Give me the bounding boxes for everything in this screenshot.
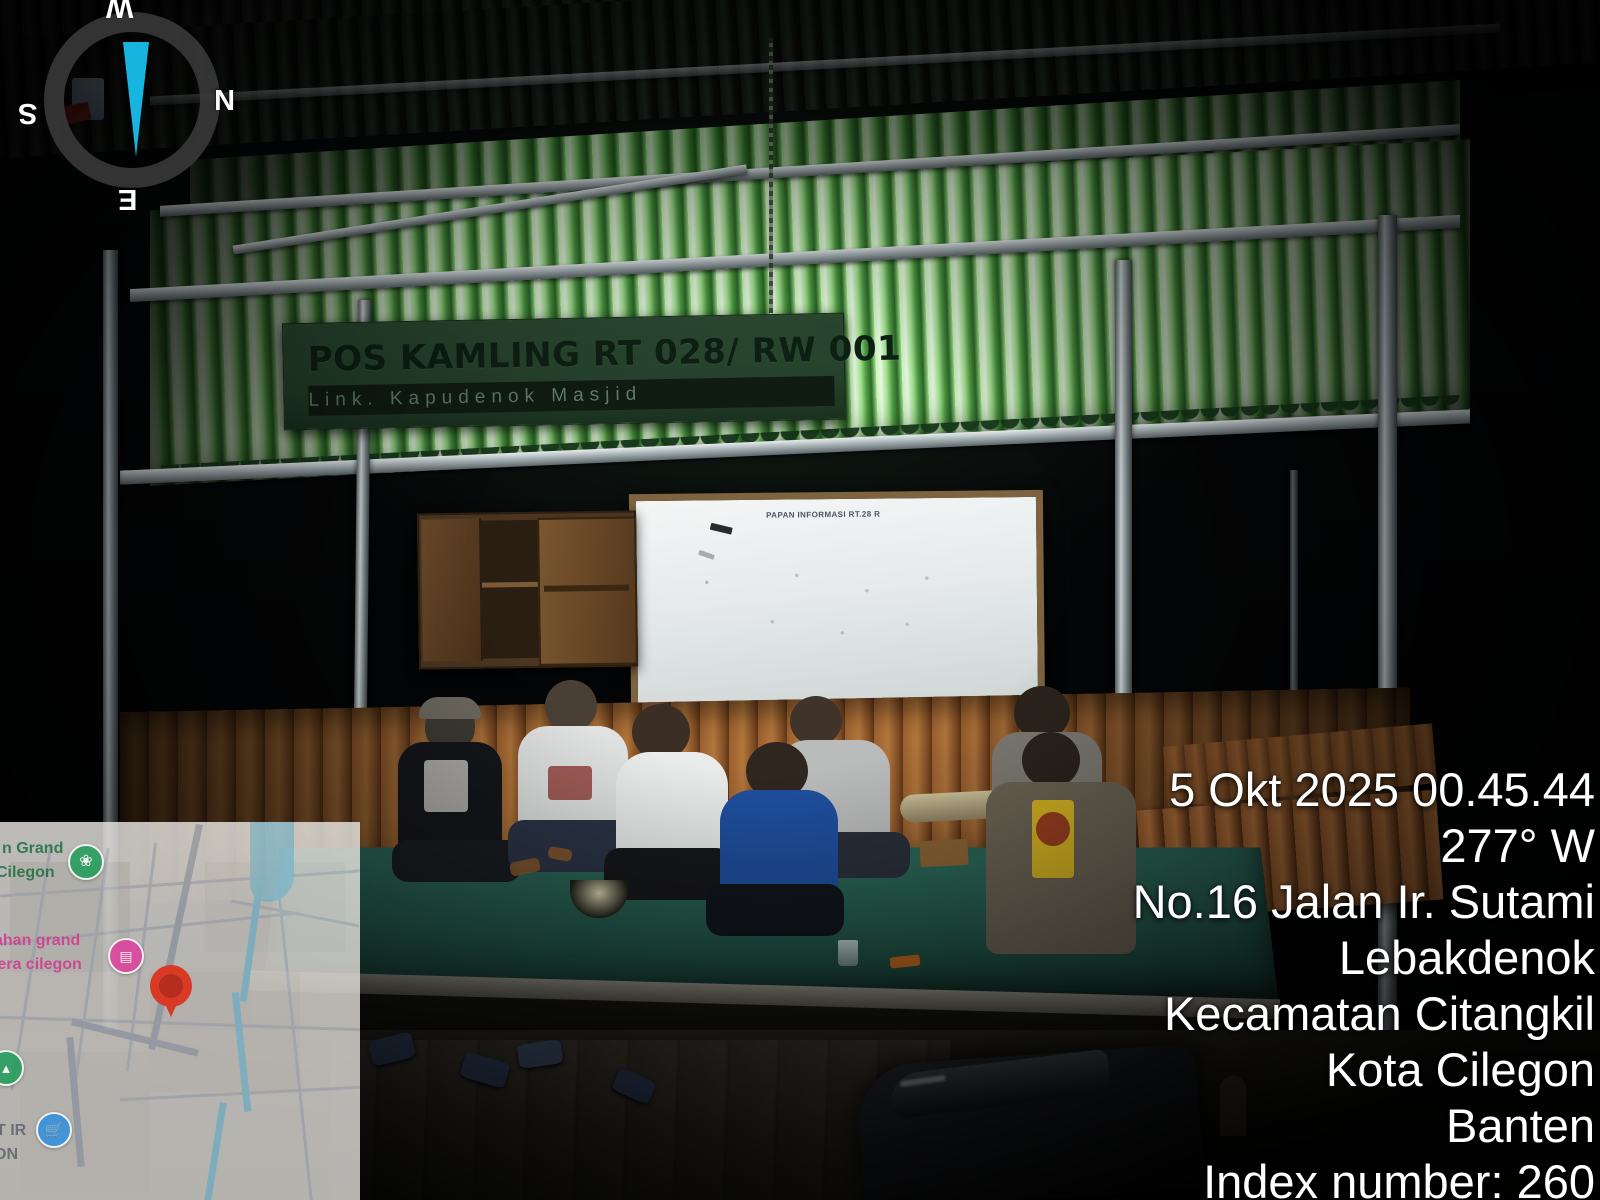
compass-widget: W N E S: [18, 0, 218, 232]
person-1-cap: [419, 697, 481, 719]
person-1-legs: [392, 840, 522, 882]
compass-label-bottom: E: [118, 182, 137, 215]
map-location-pin-icon: [150, 965, 192, 1007]
signboard-title: POS KAMLING RT 028/ RW 001: [307, 330, 834, 380]
person-2-shirt-graphic: [548, 766, 592, 800]
person-7-badge-emblem: [1036, 812, 1070, 846]
screenshot-root: POS KAMLING RT 028/ RW 001 Link. Kapuden…: [0, 0, 1600, 1200]
compass-label-left: S: [18, 96, 37, 129]
information-whiteboard: PAPAN INFORMASI RT.28 R: [629, 490, 1045, 713]
hanging-chain: [769, 38, 773, 313]
map-block-4: [20, 1052, 150, 1192]
person-7-head: [1022, 732, 1080, 788]
compass-needle-icon: [123, 42, 149, 157]
whiteboard-marker: [710, 523, 733, 535]
cabinet-door-left: [421, 519, 483, 662]
signboard-subtitle: Link. Kapudenok Masjid: [308, 384, 642, 412]
map-pin-body: [150, 965, 192, 1007]
person-4-legs: [706, 884, 844, 936]
whiteboard-marker-2: [698, 550, 715, 560]
map-block-1: [10, 862, 130, 972]
drinking-glass: [838, 940, 858, 966]
person-1-shirt-graphic: [424, 760, 468, 812]
person-5-head: [790, 696, 842, 746]
fence-post-5: [1220, 1076, 1246, 1136]
wooden-cabinet: [417, 510, 638, 669]
person-2-head: [545, 680, 597, 732]
compass-label-top: W: [106, 0, 133, 23]
whiteboard-pins: [677, 559, 1008, 682]
steel-post-right: [1378, 215, 1397, 1095]
cabinet-door-right: [537, 516, 638, 665]
paving-tiles: [330, 1040, 950, 1200]
pos-kamling-signboard: POS KAMLING RT 028/ RW 001 Link. Kapuden…: [282, 313, 846, 431]
whiteboard-label: PAPAN INFORMASI RT.28 R: [766, 510, 880, 520]
small-wooden-box: [919, 839, 968, 867]
signboard-subtitle-bar: Link. Kapudenok Masjid: [308, 376, 834, 416]
compass-label-right: N: [214, 82, 235, 115]
